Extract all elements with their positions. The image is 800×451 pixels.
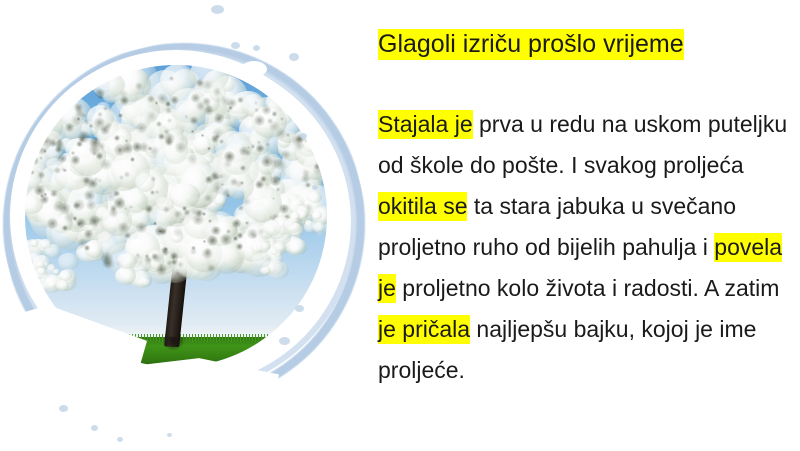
highlighted-verb: povela	[714, 233, 782, 262]
highlighted-verb: je pričala	[378, 315, 470, 344]
body-run: prva u redu na uskom puteljku	[473, 111, 788, 137]
highlighted-verb: okitila se	[378, 192, 467, 221]
body-line: Stajala je prva u redu na uskom puteljku	[378, 104, 782, 145]
splatter-dot	[167, 433, 172, 437]
body-run: proljetno ruho od bijelih pahulja i	[378, 234, 714, 260]
splatter-highlight	[35, 337, 75, 359]
body-line: proljeće.	[378, 350, 782, 391]
highlighted-verb: je	[378, 274, 396, 303]
body-run: ta stara jabuka u svečano	[467, 193, 736, 219]
splatter-dot	[317, 231, 322, 236]
slide-title: Glagoli izriču prošlo vrijeme	[378, 27, 684, 63]
body-line: od škole do pošte. I svakog proljeća	[378, 145, 782, 186]
text-column: Glagoli izriču prošlo vrijeme Stajala je…	[374, 0, 786, 451]
body-run: proljetno kolo života i radosti. A zatim	[396, 275, 780, 301]
body-line: proljetno ruho od bijelih pahulja i pove…	[378, 227, 782, 268]
splatter-dot	[59, 405, 68, 412]
body-run: od škole do pošte. I svakog proljeća	[378, 152, 744, 178]
splatter-dot	[91, 425, 98, 431]
splatter-dot	[117, 437, 123, 442]
splatter-dot	[279, 337, 290, 345]
splatter-dot	[289, 53, 299, 61]
splatter-dot	[300, 133, 307, 139]
slide-title-text: Glagoli izriču prošlo vrijeme	[378, 29, 684, 60]
slide-canvas: Glagoli izriču prošlo vrijeme Stajala je…	[0, 0, 800, 451]
splatter-dot	[312, 185, 318, 190]
tree-photo-block	[0, 5, 355, 445]
splatter-dot	[295, 305, 304, 312]
slide-body-text: Stajala je prva u redu na uskom puteljku…	[378, 104, 782, 391]
body-line: je pričala najljepšu bajku, kojoj je ime	[378, 309, 782, 350]
splatter-dot	[253, 45, 260, 51]
body-run: proljeće.	[378, 357, 465, 383]
splatter-dot	[231, 42, 240, 49]
splatter-dot	[211, 5, 224, 14]
body-line: je proljetno kolo života i radosti. A za…	[378, 268, 782, 309]
splatter-highlight	[241, 61, 267, 77]
highlighted-verb: Stajala je	[378, 110, 473, 139]
body-line: okitila se ta stara jabuka u svečano	[378, 186, 782, 227]
body-run: najljepšu bajku, kojoj je ime	[470, 316, 756, 342]
